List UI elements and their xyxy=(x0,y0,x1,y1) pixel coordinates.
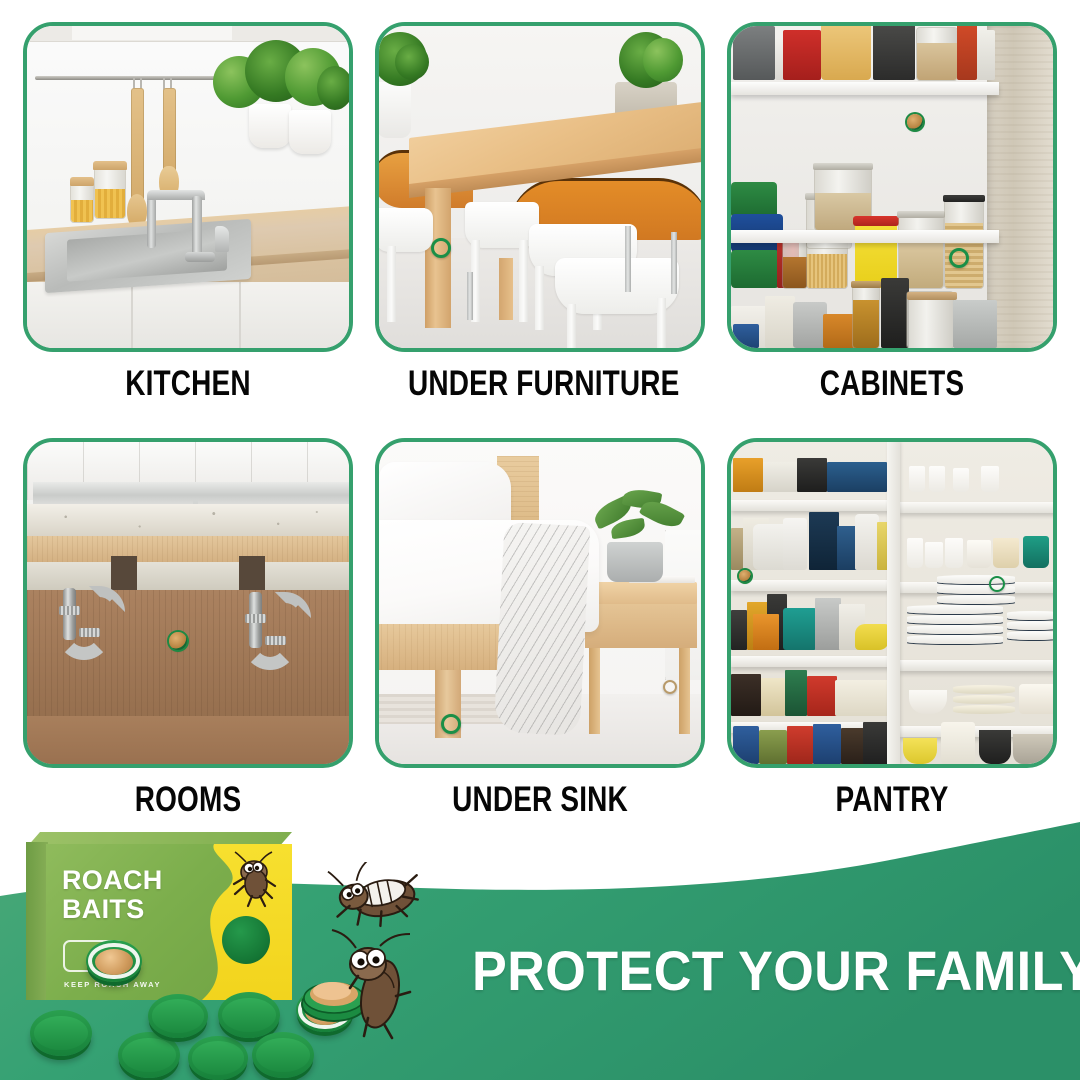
bait-disc xyxy=(148,994,208,1038)
grid-cell-pantry: PANTRY xyxy=(727,438,1057,820)
pantry-scene xyxy=(731,442,1053,764)
photo-tile-pantry xyxy=(727,438,1057,768)
promo-headline: PROTECT YOUR FAMILY xyxy=(472,938,1030,1003)
roach-running-icon xyxy=(226,848,284,908)
roach-pushing-bait-icon xyxy=(300,928,420,1046)
under-furniture-scene xyxy=(379,26,701,348)
grid-cell-rooms: ROOMS xyxy=(23,438,353,820)
grid-cell-cabinets: CABINETS xyxy=(727,22,1057,404)
bait-marker xyxy=(441,714,461,734)
grid-cell-under-sink: UNDER SINK xyxy=(375,438,705,820)
bait-marker xyxy=(989,576,1005,592)
photo-tile-under-furniture xyxy=(375,22,705,352)
bait-marker xyxy=(663,680,677,694)
feature-grid: KITCHEN xyxy=(0,0,1080,836)
bait-disc xyxy=(118,1032,180,1078)
bait-marker xyxy=(169,632,187,650)
under-sink-scene xyxy=(379,442,701,764)
box-title: ROACH BAITS xyxy=(62,866,163,924)
bait-disc xyxy=(30,1010,92,1056)
tile-caption-cabinets: CABINETS xyxy=(760,364,1024,404)
bait-marker xyxy=(431,238,451,258)
infographic-page: KITCHEN xyxy=(0,0,1080,1080)
kitchen-scene xyxy=(27,26,349,348)
bait-disc xyxy=(188,1036,248,1080)
rooms-scene xyxy=(27,442,349,764)
product-box: ROACH BAITS KEEP ROACH AWAY xyxy=(26,832,292,1000)
photo-tile-kitchen xyxy=(23,22,353,352)
bait-disc xyxy=(86,940,142,982)
bait-marker xyxy=(739,570,751,582)
box-title-line2: BAITS xyxy=(62,895,163,924)
box-title-line1: ROACH xyxy=(62,866,163,895)
photo-tile-under-sink xyxy=(375,438,705,768)
box-bait-disc xyxy=(222,916,270,964)
grid-cell-kitchen: KITCHEN xyxy=(23,22,353,404)
bait-marker xyxy=(907,114,923,130)
tile-caption-kitchen: KITCHEN xyxy=(56,364,320,404)
grid-cell-under-furniture: UNDER FURNITURE xyxy=(375,22,705,404)
tile-caption-under-furniture: UNDER FURNITURE xyxy=(408,364,672,404)
photo-tile-cabinets xyxy=(727,22,1057,352)
photo-tile-rooms xyxy=(23,438,353,768)
cabinets-scene xyxy=(731,26,1053,348)
bait-marker xyxy=(949,248,969,268)
